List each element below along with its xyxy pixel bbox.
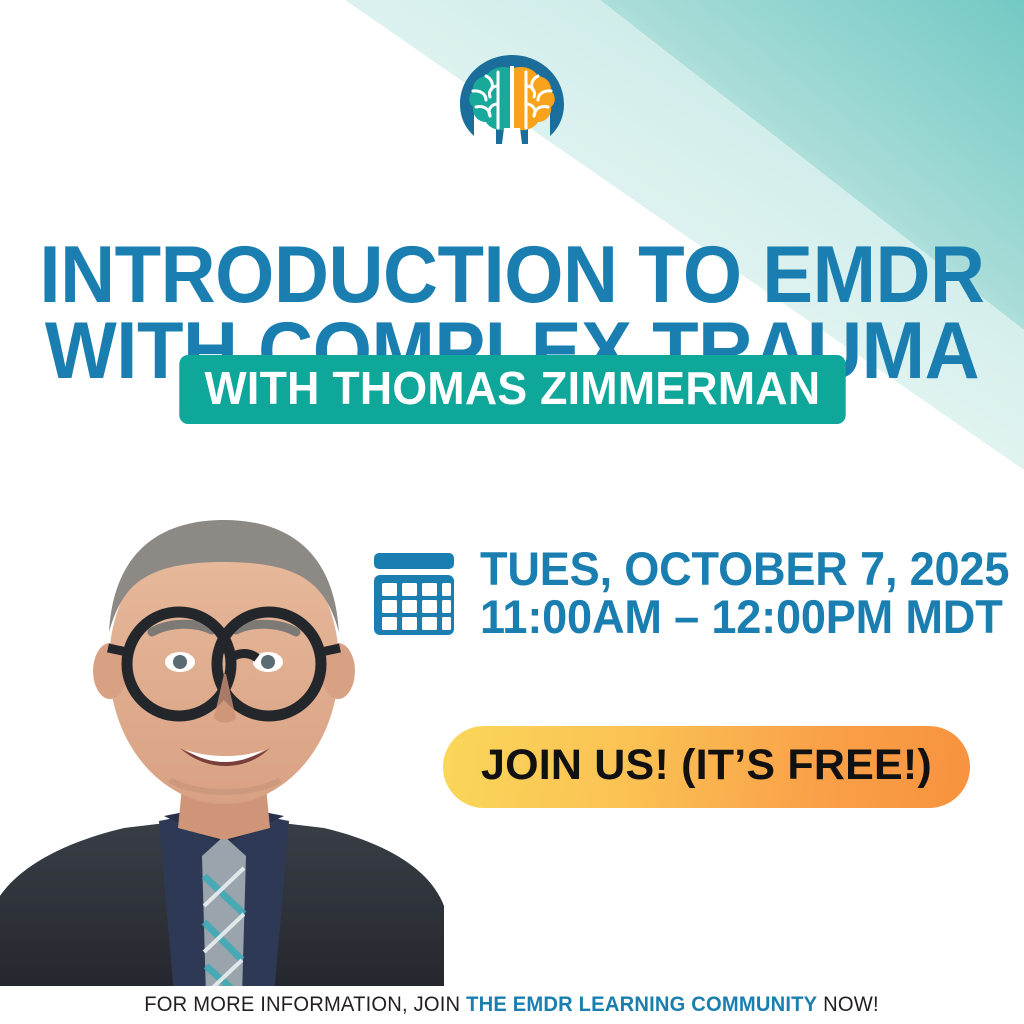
event-date: TUES, OCTOBER 7, 2025 — [480, 545, 1009, 593]
event-datetime-text: TUES, OCTOBER 7, 2025 11:00AM – 12:00PM … — [480, 545, 1009, 641]
logo-stem — [502, 128, 522, 144]
calendar-icon — [368, 547, 460, 639]
calendar-icon-header — [374, 553, 454, 569]
presenter-photo-illustration — [0, 436, 444, 996]
cta-container: JOIN US! (IT’S FREE!) — [443, 726, 970, 808]
presenter-photo — [0, 436, 444, 996]
footer-message: FOR MORE INFORMATION, JOIN THE EMDR LEAR… — [145, 993, 879, 1017]
presenter-name-badge: WITH THOMAS ZIMMERMAN — [179, 355, 845, 424]
event-datetime: TUES, OCTOBER 7, 2025 11:00AM – 12:00PM … — [368, 545, 1024, 641]
join-us-button[interactable]: JOIN US! (IT’S FREE!) — [443, 726, 970, 808]
brand-logo — [0, 52, 1024, 150]
headline-line-1: INTRODUCTION TO EMDR — [31, 238, 994, 313]
promo-poster: INTRODUCTION TO EMDR WITH COMPLEX TRAUMA… — [0, 0, 1024, 1024]
logo-center-divider — [510, 66, 514, 130]
brain-logo-icon — [456, 52, 568, 150]
event-time: 11:00AM – 12:00PM MDT — [480, 593, 1009, 641]
presenter-bar-container: WITH THOMAS ZIMMERMAN — [0, 355, 1024, 424]
footer-bar: FOR MORE INFORMATION, JOIN THE EMDR LEAR… — [0, 986, 1024, 1024]
footer-suffix: NOW! — [818, 993, 879, 1016]
footer-prefix: FOR MORE INFORMATION, JOIN — [145, 993, 467, 1016]
footer-community-link[interactable]: THE EMDR LEARNING COMMUNITY — [467, 993, 818, 1016]
